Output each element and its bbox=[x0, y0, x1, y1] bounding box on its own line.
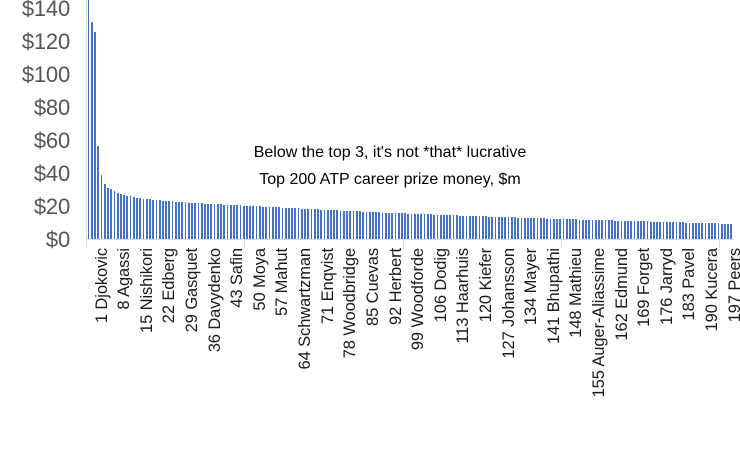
bar bbox=[672, 222, 674, 239]
y-axis-tick-label: $100 bbox=[22, 64, 70, 86]
plot-area bbox=[86, 0, 734, 240]
bar bbox=[327, 210, 329, 239]
bar bbox=[146, 199, 148, 239]
bar bbox=[572, 219, 574, 239]
bar bbox=[375, 212, 377, 239]
bar bbox=[695, 223, 697, 239]
bar bbox=[165, 201, 167, 239]
bar bbox=[718, 223, 720, 239]
bar bbox=[126, 196, 128, 239]
bar bbox=[291, 208, 293, 239]
bar bbox=[346, 211, 348, 239]
bar bbox=[417, 214, 419, 239]
bar bbox=[488, 217, 490, 239]
bar bbox=[398, 213, 400, 239]
bar bbox=[168, 201, 170, 239]
y-axis: $140$120$100$80$60$40$20$0 bbox=[0, 0, 78, 245]
x-axis-tick-label: 120 Kiefer bbox=[478, 248, 495, 322]
x-axis: 1 Djokovic8 Agassi15 Nishikori22 Edberg2… bbox=[86, 248, 740, 458]
bar bbox=[485, 216, 487, 239]
bar bbox=[382, 213, 384, 239]
x-axis-tick bbox=[403, 240, 404, 248]
bar bbox=[204, 204, 206, 239]
bar bbox=[366, 212, 368, 239]
bar bbox=[495, 217, 497, 239]
bar bbox=[708, 223, 710, 239]
bar bbox=[634, 221, 636, 239]
x-axis-tick-label: 197 Peers bbox=[727, 248, 740, 322]
bar bbox=[637, 221, 639, 239]
x-axis-tick-label: 22 Edberg bbox=[161, 248, 178, 323]
bar bbox=[330, 210, 332, 239]
bar bbox=[647, 221, 649, 239]
bar bbox=[272, 207, 274, 239]
bar bbox=[104, 184, 106, 239]
bar bbox=[136, 198, 138, 239]
bar bbox=[724, 224, 726, 239]
bar bbox=[159, 200, 161, 239]
bar bbox=[236, 205, 238, 239]
bar bbox=[640, 221, 642, 239]
bar bbox=[621, 221, 623, 239]
bar bbox=[114, 191, 116, 239]
bar bbox=[521, 218, 523, 239]
bar bbox=[650, 222, 652, 239]
bar bbox=[469, 216, 471, 239]
bar bbox=[294, 208, 296, 239]
bar bbox=[682, 222, 684, 239]
bar bbox=[282, 208, 284, 239]
bar bbox=[178, 202, 180, 239]
bar bbox=[588, 220, 590, 239]
bar bbox=[298, 208, 300, 239]
bar bbox=[243, 206, 245, 239]
bar bbox=[172, 201, 174, 239]
bar bbox=[388, 213, 390, 239]
bar bbox=[459, 216, 461, 239]
bar bbox=[343, 211, 345, 239]
bar bbox=[524, 218, 526, 239]
bar bbox=[288, 208, 290, 239]
bar bbox=[246, 206, 248, 239]
bar bbox=[149, 199, 151, 239]
bar bbox=[653, 222, 655, 239]
bar bbox=[256, 206, 258, 239]
bar bbox=[517, 218, 519, 239]
x-axis-tick-label: 29 Gasquet bbox=[184, 248, 201, 332]
bar bbox=[385, 213, 387, 239]
bar bbox=[181, 202, 183, 239]
bar bbox=[611, 220, 613, 239]
x-axis-tick-label: 183 Pavel bbox=[681, 248, 698, 321]
bar bbox=[608, 220, 610, 239]
bar bbox=[404, 213, 406, 239]
bar bbox=[101, 175, 103, 239]
bar bbox=[479, 216, 481, 239]
bar bbox=[546, 219, 548, 240]
x-axis-tick-label: 1 Djokovic bbox=[94, 248, 111, 323]
bar bbox=[624, 221, 626, 239]
x-axis-tick bbox=[86, 240, 87, 248]
bar bbox=[372, 212, 374, 239]
bar bbox=[324, 210, 326, 239]
bar bbox=[456, 215, 458, 239]
bar bbox=[501, 217, 503, 239]
bar bbox=[627, 221, 629, 239]
x-axis-tick-label: 127 Johansson bbox=[501, 248, 518, 359]
bar bbox=[217, 204, 219, 239]
bar bbox=[482, 216, 484, 239]
bar-series bbox=[87, 0, 733, 240]
bar bbox=[511, 217, 513, 239]
y-axis-tick-label: $120 bbox=[22, 31, 70, 53]
bar bbox=[685, 223, 687, 239]
x-axis-tick bbox=[561, 240, 562, 248]
x-axis-tick-label: 71 Enqvist bbox=[320, 248, 337, 324]
x-axis-ticks bbox=[86, 240, 734, 248]
bar bbox=[449, 215, 451, 239]
bar bbox=[107, 188, 109, 239]
bar bbox=[475, 216, 477, 239]
bar bbox=[440, 215, 442, 239]
bar bbox=[601, 220, 603, 239]
bar bbox=[669, 222, 671, 239]
bar bbox=[198, 203, 200, 239]
bar bbox=[249, 206, 251, 239]
bar bbox=[233, 205, 235, 239]
bar bbox=[656, 222, 658, 239]
x-axis-tick-label: 155 Auger-Aliassime bbox=[591, 248, 608, 397]
y-axis-tick-label: $0 bbox=[46, 229, 70, 251]
bar bbox=[227, 205, 229, 239]
bar bbox=[223, 205, 225, 239]
bar bbox=[123, 195, 125, 239]
bar bbox=[705, 223, 707, 239]
bar bbox=[207, 204, 209, 239]
bar bbox=[285, 208, 287, 239]
bar bbox=[391, 213, 393, 239]
bar bbox=[585, 220, 587, 239]
bar bbox=[437, 215, 439, 239]
bar bbox=[378, 212, 380, 239]
bar bbox=[698, 223, 700, 239]
bar bbox=[307, 209, 309, 239]
bar bbox=[424, 214, 426, 239]
bar bbox=[411, 214, 413, 239]
bar bbox=[643, 221, 645, 239]
x-axis-tick bbox=[244, 240, 245, 248]
bar bbox=[689, 223, 691, 239]
bar bbox=[563, 219, 565, 239]
bar bbox=[508, 217, 510, 239]
x-axis-tick-label: 50 Moya bbox=[252, 248, 269, 311]
bar bbox=[595, 220, 597, 239]
x-axis-tick-label: 78 Woodbridge bbox=[342, 248, 359, 358]
bar bbox=[533, 218, 535, 239]
bar bbox=[259, 206, 261, 239]
bar bbox=[472, 216, 474, 239]
bar bbox=[278, 207, 280, 239]
bar bbox=[598, 220, 600, 239]
bar bbox=[569, 219, 571, 239]
x-axis-tick-label: 169 Forget bbox=[636, 248, 653, 327]
x-axis-tick-label: 36 Davydenko bbox=[207, 248, 224, 352]
bar bbox=[359, 211, 361, 239]
bar bbox=[269, 207, 271, 239]
bar bbox=[498, 217, 500, 239]
bar bbox=[553, 219, 555, 239]
bar bbox=[537, 218, 539, 239]
x-axis-tick-label: 141 Bhupathi bbox=[546, 248, 563, 344]
bar bbox=[462, 216, 464, 239]
bar bbox=[491, 217, 493, 239]
x-axis-tick-label: 64 Schwartzman bbox=[297, 248, 314, 370]
bar bbox=[120, 194, 122, 239]
bar bbox=[466, 216, 468, 239]
bar bbox=[320, 210, 322, 239]
bar bbox=[130, 196, 132, 239]
bar bbox=[349, 211, 351, 239]
y-axis-tick-label: $60 bbox=[34, 130, 70, 152]
bar bbox=[543, 218, 545, 239]
bar bbox=[579, 220, 581, 240]
bar bbox=[663, 222, 665, 239]
bar bbox=[210, 204, 212, 239]
bar bbox=[559, 219, 561, 239]
bar bbox=[110, 189, 112, 239]
x-axis-tick-label: 190 Kucera bbox=[704, 248, 721, 331]
bar bbox=[304, 209, 306, 239]
bar bbox=[617, 221, 619, 239]
x-axis-tick-label: 134 Mayer bbox=[523, 248, 540, 325]
bar bbox=[265, 207, 267, 239]
bar bbox=[514, 217, 516, 239]
bar bbox=[443, 215, 445, 239]
x-axis-tick-label: 57 Mahut bbox=[274, 248, 291, 316]
bar bbox=[262, 207, 264, 239]
bar bbox=[701, 223, 703, 239]
bar bbox=[430, 214, 432, 239]
bar bbox=[540, 218, 542, 239]
bar bbox=[714, 223, 716, 239]
bar bbox=[214, 204, 216, 239]
bar bbox=[530, 218, 532, 239]
bar bbox=[139, 198, 141, 239]
x-axis-tick-label: 99 Woodforde bbox=[410, 248, 427, 350]
bar bbox=[152, 200, 154, 239]
bar bbox=[420, 214, 422, 239]
bar bbox=[314, 209, 316, 239]
bar bbox=[333, 210, 335, 239]
bar bbox=[676, 222, 678, 239]
bar bbox=[340, 211, 342, 239]
bar bbox=[133, 197, 135, 239]
x-axis-tick-label: 8 Agassi bbox=[116, 248, 133, 310]
bar bbox=[614, 221, 616, 239]
x-axis-tick-label: 106 Dodig bbox=[433, 248, 450, 322]
y-axis-tick-label: $20 bbox=[34, 196, 70, 218]
bar bbox=[88, 0, 90, 239]
y-axis-tick-label: $40 bbox=[34, 163, 70, 185]
x-axis-tick-label: 85 Cuevas bbox=[365, 248, 382, 326]
bar bbox=[395, 213, 397, 239]
bar bbox=[175, 202, 177, 239]
x-axis-tick-label: 148 Mathieu bbox=[568, 248, 585, 338]
bar bbox=[356, 211, 358, 239]
bar bbox=[191, 203, 193, 239]
bar bbox=[659, 222, 661, 239]
bar-chart: $140$120$100$80$60$40$20$0 1 Djokovic8 A… bbox=[0, 0, 740, 458]
bar bbox=[230, 205, 232, 239]
bar bbox=[401, 213, 403, 239]
bar bbox=[679, 222, 681, 239]
bar bbox=[369, 212, 371, 239]
y-axis-tick-label: $80 bbox=[34, 97, 70, 119]
bar bbox=[317, 209, 319, 239]
x-axis-tick-label: 43 Safin bbox=[229, 248, 246, 308]
bar bbox=[91, 22, 93, 239]
bar bbox=[666, 222, 668, 239]
bar bbox=[605, 220, 607, 239]
bar bbox=[156, 200, 158, 239]
bar bbox=[575, 219, 577, 239]
x-axis-tick-label: 113 Haarhuis bbox=[455, 248, 472, 344]
bar bbox=[582, 220, 584, 239]
bar bbox=[407, 214, 409, 239]
bar bbox=[446, 215, 448, 239]
bar bbox=[362, 212, 364, 239]
bar bbox=[97, 146, 99, 239]
bar bbox=[252, 206, 254, 239]
bar bbox=[301, 209, 303, 239]
bar bbox=[220, 204, 222, 239]
bar bbox=[453, 215, 455, 239]
bar bbox=[240, 205, 242, 239]
bar bbox=[117, 193, 119, 239]
bar bbox=[336, 210, 338, 239]
bar bbox=[433, 215, 435, 239]
bar bbox=[143, 199, 145, 240]
bar bbox=[311, 209, 313, 239]
bar bbox=[730, 224, 732, 239]
bar bbox=[556, 219, 558, 239]
bar bbox=[427, 214, 429, 239]
bar bbox=[275, 207, 277, 239]
bar bbox=[188, 203, 190, 239]
bar bbox=[194, 203, 196, 239]
bar bbox=[711, 223, 713, 239]
bar bbox=[692, 223, 694, 239]
x-axis-tick-label: 92 Herbert bbox=[388, 248, 405, 325]
bar bbox=[721, 224, 723, 239]
bar bbox=[162, 201, 164, 239]
bar bbox=[630, 221, 632, 239]
bar bbox=[527, 218, 529, 239]
bar bbox=[94, 32, 96, 239]
x-axis-tick-label: 176 Jarryd bbox=[659, 248, 676, 325]
x-axis-tick-label: 15 Nishikori bbox=[139, 248, 156, 333]
bar bbox=[504, 217, 506, 239]
bar bbox=[353, 211, 355, 239]
bar bbox=[185, 202, 187, 239]
bar bbox=[592, 220, 594, 239]
x-axis-tick bbox=[719, 240, 720, 248]
x-axis-tick-label: 162 Edmund bbox=[614, 248, 631, 341]
bar bbox=[727, 224, 729, 239]
bar bbox=[550, 219, 552, 240]
y-axis-tick-label: $140 bbox=[22, 0, 70, 20]
bar bbox=[566, 219, 568, 239]
bar bbox=[414, 214, 416, 239]
bar bbox=[201, 203, 203, 239]
